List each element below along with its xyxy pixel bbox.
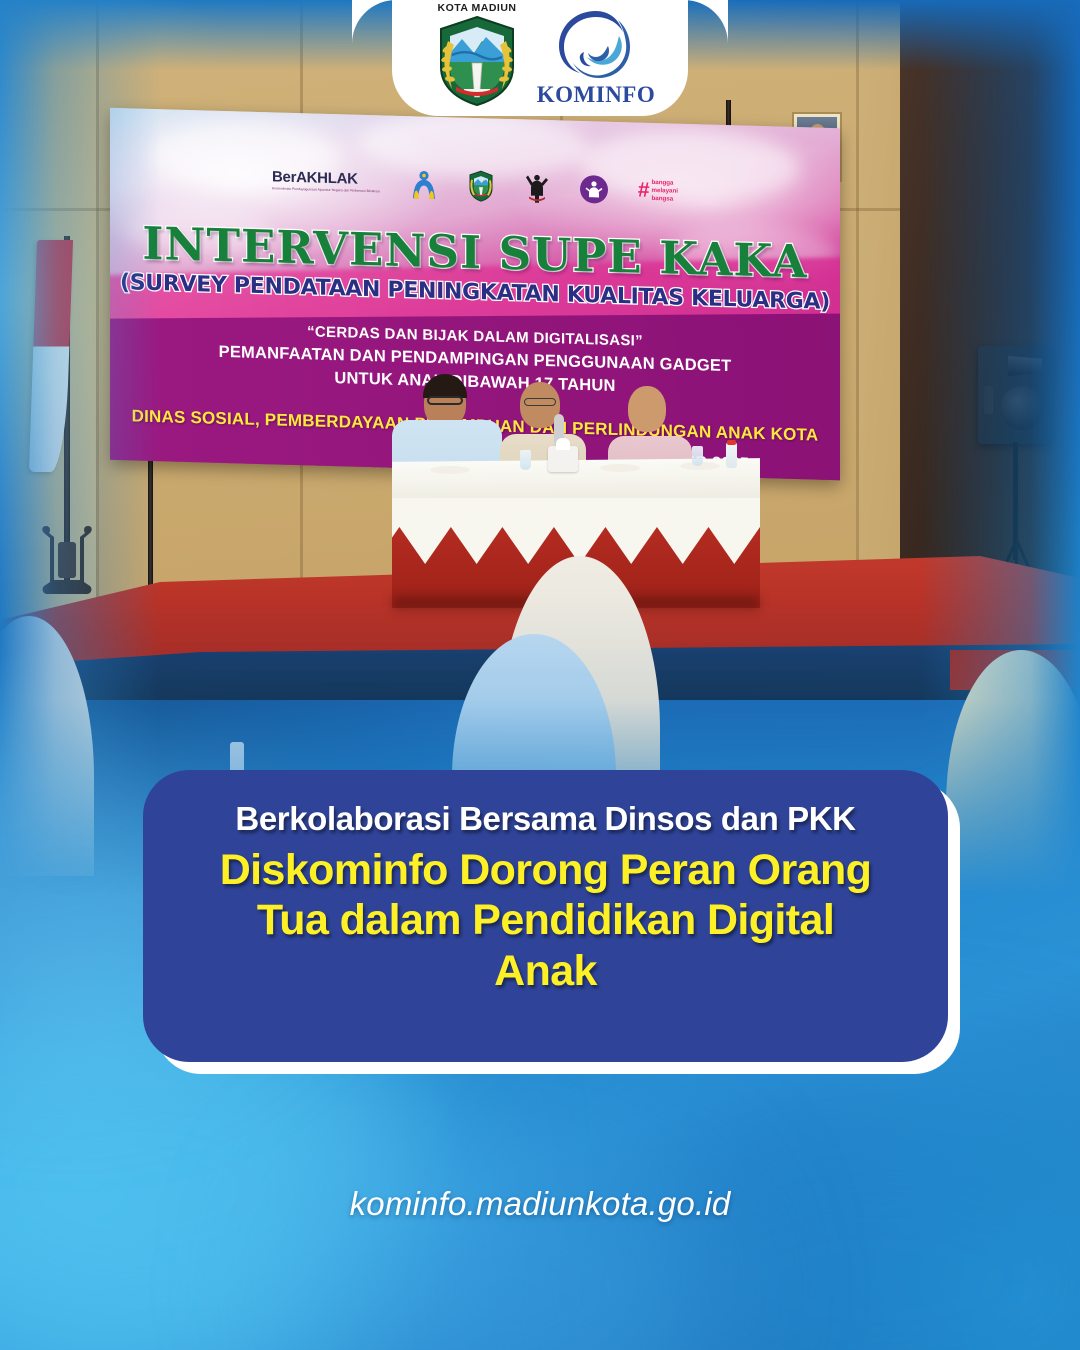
headline-kicker: Berkolaborasi Bersama Dinsos dan PKK [187,800,904,839]
berakhlak-logo-label: BerAKHLAK [272,168,358,187]
website-url[interactable]: kominfo.madiunkota.go.id [0,1185,1080,1223]
flag-stand [38,520,96,598]
header-tab-curve-left [352,0,396,44]
emblem-caption: KOTA MADIUN [438,2,517,14]
wall-seam [96,0,99,640]
madiun-kampung-pesilat-logo [524,171,550,204]
headline-card: Berkolaborasi Bersama Dinsos dan PKK Dis… [143,770,948,1062]
headline-title-line-3: Anak [187,946,904,996]
berakhlak-logo: BerAKHLAK Kementerian Pendayagunaan Apar… [272,169,380,194]
drinking-glass [520,450,531,470]
hash-icon: # [638,182,650,199]
background-glow-bottom-center [300,1140,720,1350]
event-photo: BerAKHLAK Kementerian Pendayagunaan Apar… [0,0,1080,900]
berakhlak-logo-sub: Kementerian Pendayagunaan Aparatur Negar… [272,186,380,194]
tissue-sheet [556,438,570,450]
kota-madiun-emblem-logo [468,170,494,203]
panelist-1-glasses [427,396,463,405]
kominfo-wordmark: KOMINFO [537,82,656,108]
loudspeaker-woofer [1000,386,1044,430]
plate [600,464,640,472]
wall-seam [856,0,859,640]
kominfo-logo: KOMINFO [538,0,654,108]
drinking-glass [692,446,703,466]
bangga-melayani-bangsa-logo: # banggamelayanibangsa [638,179,678,203]
wall-dark-panel [900,0,1080,648]
kominfo-wave-logo-icon [556,8,636,82]
kota-madiun-coat-of-arms-icon [434,15,520,107]
panelist-3-head [628,386,666,432]
water-bottle [726,442,737,468]
bottle-cap [727,440,736,445]
headline-title-line-1: Diskominfo Dorong Peran Orang [187,845,904,895]
loudspeaker-horn [1008,356,1042,376]
header-logo-tab: KOTA MADIUN [392,0,688,116]
poster-canvas: BerAKHLAK Kementerian Pendayagunaan Apar… [0,0,1080,1350]
headline-title: Diskominfo Dorong Peran Orang Tua dalam … [187,845,904,996]
header-tab-curve-right [684,0,728,44]
loudspeaker-handle [984,386,993,414]
kota-madiun-emblem: KOTA MADIUN [426,2,528,108]
plate [430,466,470,474]
panelist-2-glasses [524,398,556,406]
headline-title-line-2: Tua dalam Pendidikan Digital [187,895,904,945]
pemberdayaan-perempuan-logo [410,169,438,200]
perlindungan-anak-logo [580,175,608,204]
